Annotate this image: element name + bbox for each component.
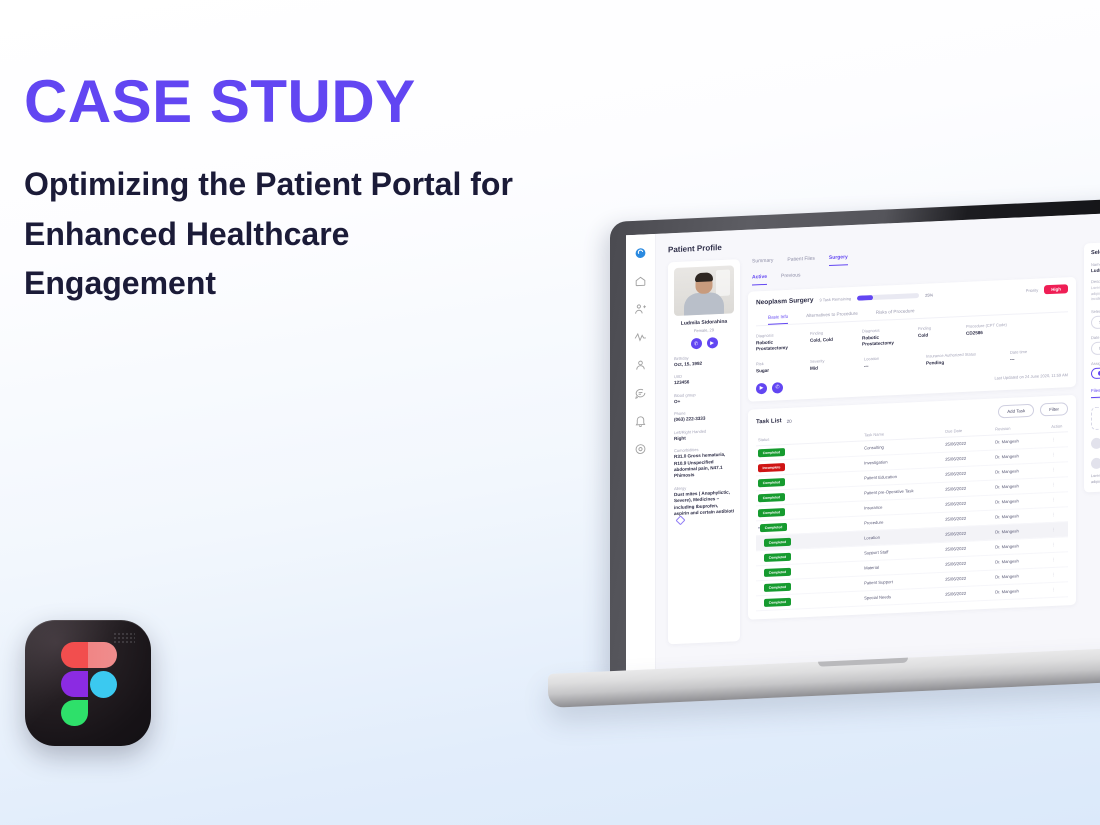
surgery-tasks-remaining: 9 Task Remaining [819,296,851,302]
detail-name-label: Name [1091,259,1100,267]
info-label: Diagnosis [756,331,798,338]
patient-field: Birthday Oct, 15, 1992 [674,353,734,368]
task-list-count: 20 [787,418,792,423]
row-action-cell[interactable]: ⋮ [1049,581,1068,597]
info-value: --- [864,362,904,370]
assigned-by-chip[interactable]: Dr. Jon Doe [1091,366,1100,379]
info-cell: Diagnosis Robotic Prostatectomy [862,327,906,348]
last-updated-text: Last Updated on 24 June 2020, 11:59 AM [994,372,1068,380]
activity-icon[interactable] [634,330,647,344]
info-value: Sugar [756,367,788,375]
col-action: Action [1049,420,1068,432]
info-label: Finding [918,324,954,331]
info-cell: Finding Cold [918,324,954,345]
status-badge: Completed [764,597,791,606]
laptop-lid: Patient Profile Ludmila Sidorahina [610,197,1100,677]
row-action-cell[interactable]: ⋮ [1049,521,1068,537]
task-table-body: CompletedConsulting25/06/2022Dr. Mangesh… [756,431,1068,610]
row-action-cell[interactable]: ⋮ [1049,476,1068,492]
status-badge: Completed [764,582,791,591]
patient-meta: Female, 29 [674,326,734,334]
hero-section: CASE STUDY Optimizing the Patient Portal… [24,72,584,309]
status-badge: Completed [758,508,785,517]
messages-icon[interactable] [634,386,647,400]
laptop-mockup: Patient Profile Ludmila Sidorahina [548,222,1100,742]
info-cell: Insurance Authorized Status Pending [926,351,988,367]
kebab-menu-icon[interactable]: ⋮ [1051,527,1055,532]
info-label: Date time [1010,349,1027,355]
patient-contact-actions: ✆ ▶ [674,336,734,350]
sidebar-rail [626,234,656,676]
info-value: Mid [810,365,842,373]
surgery-panel: Neoplasm Surgery 9 Task Remaining 25% Pr… [748,277,1076,401]
figma-cyan-shape [90,671,117,698]
info-label: Location [864,355,904,362]
patient-field-value: R31.0 Gross hematuria, R10.9 Unspecified… [674,451,734,479]
patient-field-value: 123456 [674,378,734,387]
edit-pencil-icon[interactable] [676,516,686,526]
row-action-cell[interactable]: ⋮ [1049,566,1068,582]
surgery-progress-pct: 25% [925,292,933,297]
call-icon[interactable]: ✆ [691,338,702,349]
revision-cell: Dr. Mangesh [993,582,1049,600]
notifications-icon[interactable] [634,414,647,428]
kebab-menu-icon[interactable]: ⋮ [1051,437,1055,442]
info-value: Cold [918,331,954,339]
info-label: Procedure (CPT Code) [966,322,1007,329]
laptop-screen: Patient Profile Ludmila Sidorahina [626,211,1100,677]
task-list-panel: Task List 20 Add Task Filter S [748,394,1076,619]
kebab-menu-icon[interactable]: ⋮ [1051,512,1055,517]
status-badge: Completed [764,552,791,561]
patient-field-value: Dust mites ( Anaphylictic, Severe), Medi… [674,489,734,517]
app-content: Patient Profile Ludmila Sidorahina [656,211,1100,675]
comment-item: Harry Smith 12 min ago [1091,454,1100,469]
patient-field: Blood group O+ [674,390,734,405]
tab-patient-files[interactable]: Patient Files [787,256,815,268]
tab-surgery[interactable]: Surgery [829,254,848,266]
tab-basic-info[interactable]: Basic Info [768,314,788,325]
info-cell: Risk Sugar [756,360,788,375]
staff-icon[interactable] [634,358,647,372]
date-input[interactable]: 06/22/2022 [1091,339,1100,355]
photo-hair [695,272,713,282]
comment-input-row: Add a comment [1091,435,1100,449]
add-task-button[interactable]: Add Task [998,403,1034,418]
info-label: Finding [810,329,850,336]
kebab-menu-icon[interactable]: ⋮ [1051,572,1055,577]
patients-icon[interactable] [634,302,647,316]
info-label: Diagnosis [862,327,906,334]
info-cell: Diagnosis Robotic Prostatectomy [756,331,798,352]
figma-red-shape [61,642,117,668]
patient-field-value: (063) 222-3333 [674,415,734,424]
status-badge: Completed [764,567,791,576]
info-value: CD2586 [966,329,1007,337]
tab-alternatives[interactable]: Alternatives to Procedure [806,311,858,323]
task-name-cell: Special Needs [862,587,943,606]
row-action-cell[interactable]: ⋮ [1049,506,1068,522]
settings-icon[interactable] [634,442,647,456]
patient-field-value: O+ [674,396,734,405]
subtab-previous[interactable]: Previous [781,272,800,284]
video-icon[interactable]: ▶ [756,382,767,393]
row-action-cell[interactable]: ⋮ [1049,491,1068,507]
status-badge: Completed [758,493,785,502]
filter-button[interactable]: Filter [1040,402,1068,416]
patient-field: UIID 123456 [674,372,734,387]
kebab-menu-icon[interactable]: ⋮ [1051,467,1055,472]
photo-background [716,270,730,297]
row-action-cell[interactable]: ⋮ [1049,461,1068,477]
call-icon[interactable]: ✆ [772,382,783,393]
info-value: Cold, Cold [810,336,850,344]
info-cell: Finding Cold, Cold [810,329,850,350]
task-list-title: Task List [756,418,782,425]
patient-card: Ludmila Sidorahina Female, 29 ✆ ▶ Birthd… [668,259,740,644]
detail-description-value: Lorem ipsum dolor sit amet consectetur a… [1091,283,1100,303]
figma-logo [25,620,151,746]
patient-field-value: Right [674,433,734,442]
surgery-title: Neoplasm Surgery [756,297,813,307]
priority-label: Priority [1026,288,1038,294]
patient-field: Comorbidities R31.0 Gross hematuria, R10… [674,445,734,479]
tab-risks[interactable]: Risks of Procedure [876,308,915,320]
info-cell: Date time --- [1010,349,1027,363]
home-icon[interactable] [634,274,647,288]
status-badge: Completed [764,537,791,546]
surgery-progress-bar [857,293,919,301]
page-title: Optimizing the Patient Portal for Enhanc… [24,160,544,309]
status-badge: Completed [758,448,785,457]
kebab-menu-icon[interactable]: ⋮ [1051,482,1055,487]
info-label: Risk [756,360,788,366]
info-value: Pending [926,358,988,367]
hospital-search-input[interactable]: Search [1091,313,1100,329]
info-cell: Severity Mid [810,358,842,373]
detail-date-label: Date [1091,332,1100,340]
detail-description-label: Description [1091,276,1100,284]
info-value: --- [1010,356,1027,363]
patient-portal-app: Patient Profile Ludmila Sidorahina [626,211,1100,677]
task-list-actions: Add Task Filter [998,402,1068,418]
location-detail-panel: Select Location Name Ludmila Sidorahina … [1084,240,1100,493]
avatar [1091,457,1100,468]
subtab-active[interactable]: Active [752,274,767,286]
task-table: Status Task Name Due Date Revision Actio… [756,420,1068,611]
app-logo-icon[interactable] [634,246,647,260]
status-badge: Incomplete [758,463,785,472]
kebab-menu-icon[interactable]: ⋮ [1051,557,1055,562]
tab-summary[interactable]: Summary [752,258,773,270]
kebab-menu-icon[interactable]: ⋮ [1051,587,1055,592]
info-label: Severity [810,358,842,364]
patient-field: Phone (063) 222-3333 [674,409,734,424]
case-study-kicker: CASE STUDY [24,72,584,132]
patient-field: Left/Right Handed Right [674,427,734,442]
detail-title: Select Location [1091,247,1100,256]
video-icon[interactable]: ▶ [707,337,718,348]
comment-body: Lorem ipsum dolor sit amet consectetur a… [1091,471,1100,486]
due-date-cell: 25/06/2022 [943,585,993,602]
surgery-column: Summary Patient Files Surgery Active Pre… [748,244,1076,619]
photo-torso [684,292,724,316]
figma-mark-icon [61,642,117,726]
avatar [1091,438,1100,449]
detail-hospital-label: Select Hospital [1091,306,1100,314]
kebab-menu-icon[interactable]: ⋮ [1051,452,1055,457]
surgery-contact-actions: ▶ ✆ [756,382,783,394]
info-value: Robotic Prostatectomy [756,338,798,352]
row-action-cell[interactable]: ⋮ [1049,536,1068,552]
info-cell: Procedure (CPT Code) CD2586 [966,322,1007,343]
detail-tabs: Files Notes [1091,385,1100,399]
info-value: Robotic Prostatectomy [862,334,906,348]
priority-badge: High [1044,284,1068,294]
figma-purple-shape [61,671,88,697]
kebab-menu-icon[interactable]: ⋮ [1051,542,1055,547]
status-badge: Completed [760,523,787,532]
row-action-cell[interactable]: ⋮ [1049,551,1068,567]
row-action-cell[interactable]: ⋮ [1049,446,1068,462]
patient-field: Allergy Dust mites ( Anaphylictic, Sever… [674,483,734,517]
row-action-cell[interactable]: ⋮ [1049,431,1068,447]
patient-photo [674,265,734,316]
tab-files[interactable]: Files [1091,388,1100,398]
figma-green-shape [61,700,88,726]
kebab-menu-icon[interactable]: ⋮ [1051,497,1055,502]
status-badge: Completed [758,478,785,487]
file-dropzone[interactable]: 📎 Attach file [1091,404,1100,430]
patient-field-value: Oct, 15, 1992 [674,359,734,368]
info-cell: Location --- [864,355,904,370]
